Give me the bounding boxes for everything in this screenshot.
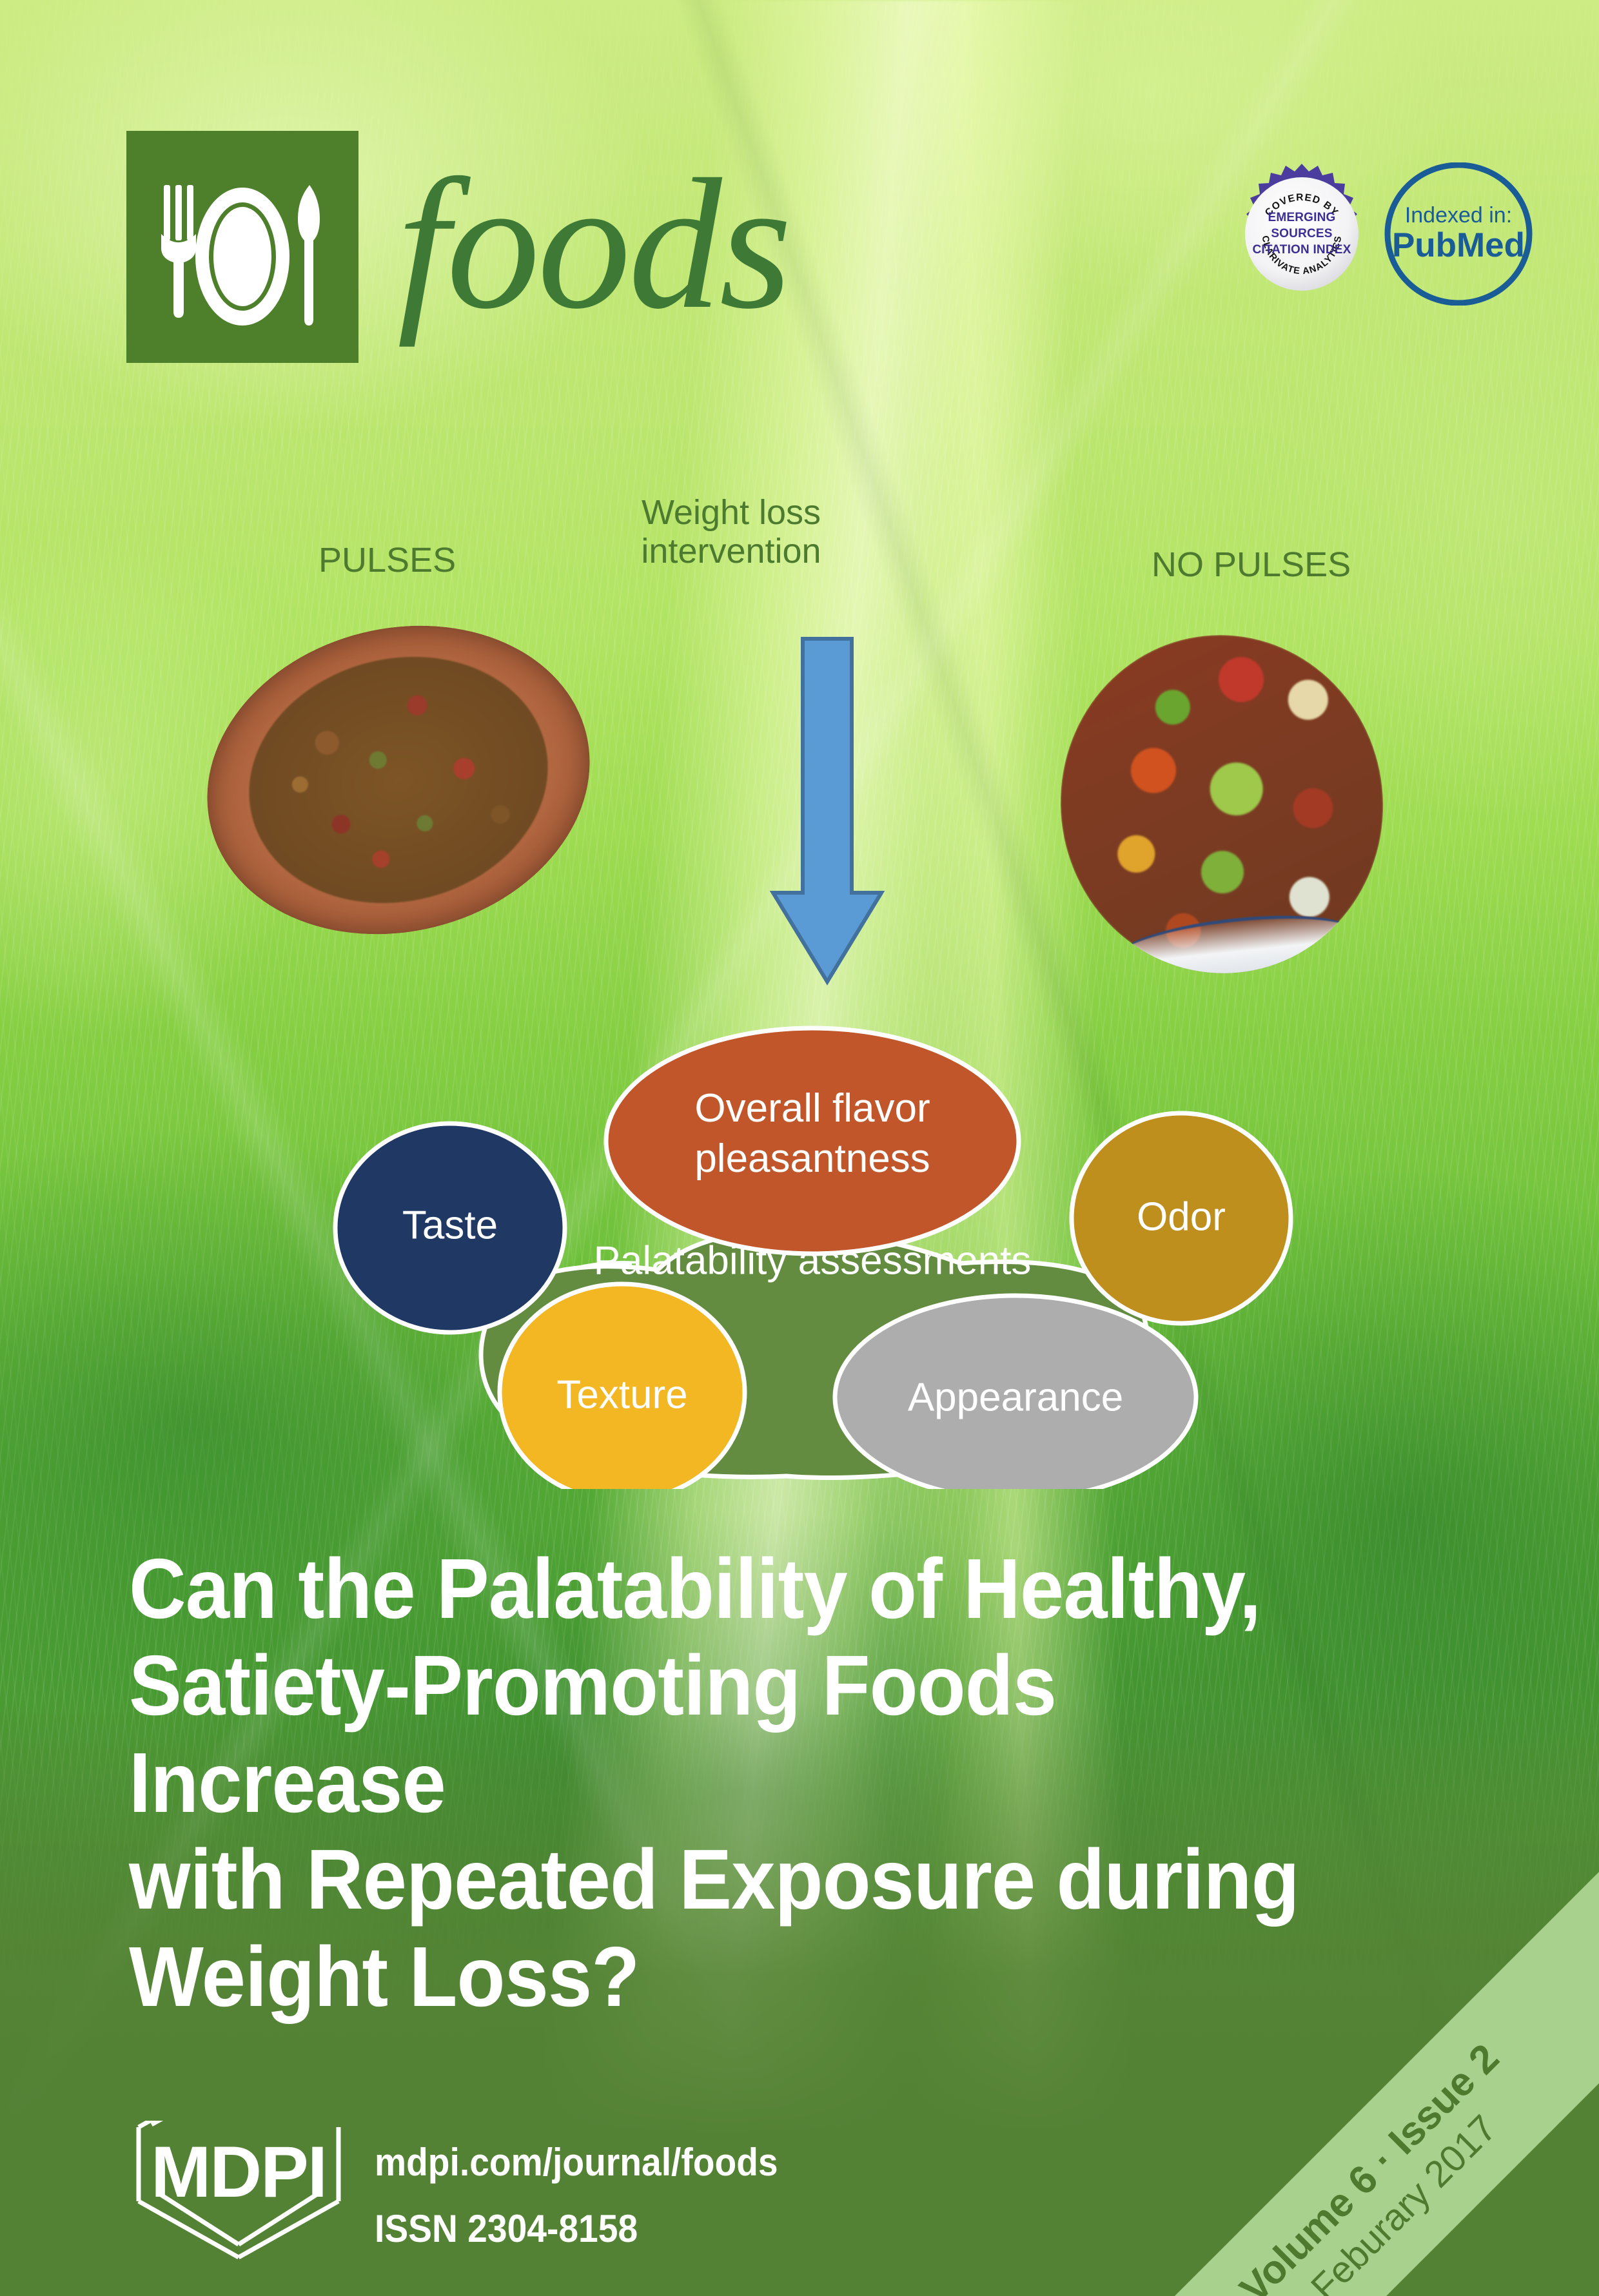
esci-line-citation-index: CITATION INDEX <box>1252 243 1351 257</box>
mdpi-logo-icon[interactable]: MDPI <box>132 2121 345 2266</box>
pubmed-indexed-label: Indexed in: <box>1405 204 1512 228</box>
label-no-pulses: NO PULSES <box>1152 545 1351 585</box>
node-label-odor: Odor <box>1137 1194 1226 1239</box>
node-label-flavor-2: pleasantness <box>694 1136 930 1181</box>
title-line-2: Satiety-Promoting Foods Increase <box>129 1637 1370 1831</box>
mdpi-wordmark: MDPI <box>151 2132 326 2212</box>
wli-line-1: Weight loss <box>596 493 867 532</box>
pubmed-badge[interactable]: Indexed in: PubMed <box>1382 162 1535 306</box>
plate-fork-knife-icon <box>126 131 358 363</box>
esci-line-emerging: EMERGING <box>1268 211 1335 225</box>
palatability-diagram: Palatability assessments Overall flavor … <box>297 1006 1328 1489</box>
wli-line-2: intervention <box>596 532 867 570</box>
label-weight-loss-intervention: Weight loss intervention <box>596 493 867 571</box>
footer-text-block: mdpi.com/journal/foods ISSN 2304-8158 <box>375 2140 813 2251</box>
node-label-flavor-1: Overall flavor <box>694 1086 930 1131</box>
node-label-appearance: Appearance <box>908 1375 1123 1419</box>
article-title: Can the Palatability of Healthy, Satiety… <box>129 1541 1370 2025</box>
journal-issn: ISSN 2304-8158 <box>375 2206 778 2251</box>
esci-line-sources: SOURCES <box>1271 227 1332 241</box>
title-line-3: with Repeated Exposure during <box>129 1831 1370 1928</box>
palatability-diagram-svg: Palatability assessments Overall flavor … <box>297 1006 1328 1489</box>
index-badges: COVERED BY CLARIVATE ANALYTICS EMERGING … <box>1230 162 1535 306</box>
down-arrow <box>769 635 885 986</box>
node-label-taste: Taste <box>402 1203 498 1247</box>
esci-badge[interactable]: COVERED BY CLARIVATE ANALYTICS EMERGING … <box>1230 162 1373 306</box>
journal-logo[interactable]: foods <box>126 131 789 363</box>
arrow-down-icon <box>769 635 885 986</box>
cover-footer: MDPI mdpi.com/journal/foods ISSN 2304-81… <box>132 2121 813 2266</box>
journal-cover: foods COVERED BY <box>0 0 1599 2296</box>
title-line-1: Can the Palatability of Healthy, <box>129 1541 1370 1637</box>
journal-name: foods <box>397 160 789 328</box>
journal-url[interactable]: mdpi.com/journal/foods <box>375 2140 778 2184</box>
pubmed-name: PubMed <box>1392 228 1525 264</box>
label-pulses: PULSES <box>319 540 456 580</box>
title-line-4: Weight Loss? <box>129 1929 1370 2025</box>
pubmed-badge-text: Indexed in: PubMed <box>1382 162 1535 306</box>
node-label-texture: Texture <box>556 1372 687 1417</box>
esci-badge-text: EMERGING SOURCES CITATION INDEX <box>1230 162 1373 306</box>
